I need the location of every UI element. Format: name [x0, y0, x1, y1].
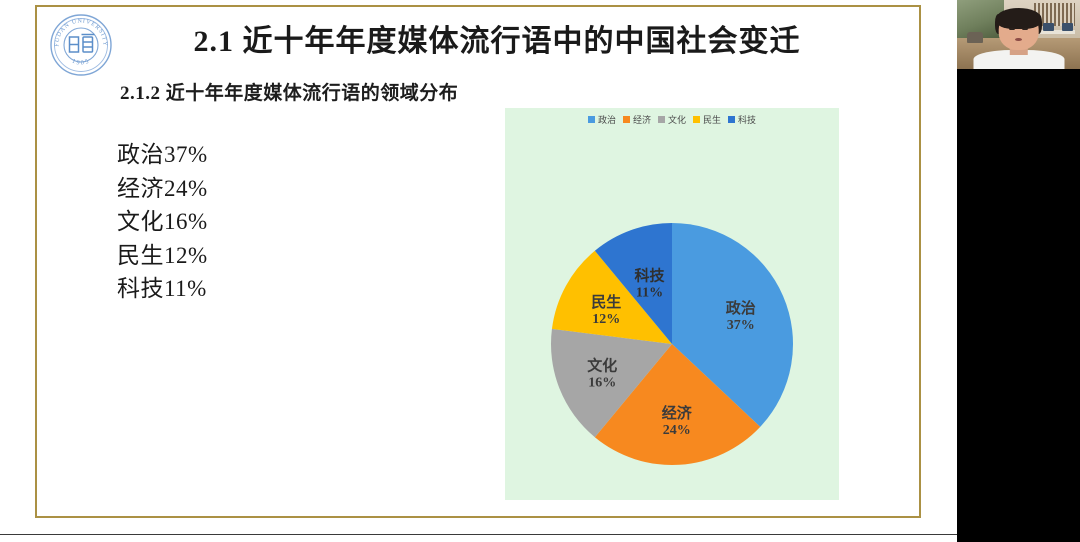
legend-item-wenhua: 文化 [658, 113, 686, 126]
pie-slice-label-name: 政治 [726, 299, 756, 317]
pie-chart-card: 政治 经济 文化 民生 [505, 108, 839, 500]
legend-label: 文化 [668, 113, 686, 126]
list-item: 政治37% [117, 138, 208, 172]
legend-swatch-zhengzhi [588, 116, 595, 123]
avatar-hair [996, 8, 1042, 29]
legend-swatch-minsheng [693, 116, 700, 123]
speaker-video-tile[interactable] [957, 0, 1080, 69]
chart-legend: 政治 经济 文化 民生 [505, 113, 839, 126]
pie-slice-label-value: 24% [663, 423, 691, 438]
pie-slice-label-name: 民生 [591, 293, 621, 311]
legend-label: 经济 [633, 113, 651, 126]
svg-text:FUDAN UNIVERSITY: FUDAN UNIVERSITY [54, 18, 107, 46]
presentation-slide: FUDAN UNIVERSITY 1905 [35, 5, 921, 518]
legend-item-zhengzhi: 政治 [588, 113, 616, 126]
svg-text:1905: 1905 [71, 58, 91, 67]
pie-slice-label-value: 11% [636, 285, 663, 300]
section-subtitle: 2.1.2 近十年年度媒体流行语的领域分布 [120, 81, 458, 107]
screen: FUDAN UNIVERSITY 1905 [0, 0, 1080, 542]
fudan-university-seal-icon: FUDAN UNIVERSITY 1905 [49, 13, 113, 77]
video-panel[interactable] [957, 0, 1080, 542]
avatar-eye [1022, 28, 1028, 30]
page-title: 2.1 近十年年度媒体流行语中的中国社会变迁 [127, 23, 867, 61]
list-item: 文化16% [117, 205, 208, 239]
pie-slice-label-name: 经济 [662, 404, 693, 422]
list-item: 经济24% [117, 172, 208, 206]
legend-item-jingji: 经济 [623, 113, 651, 126]
legend-swatch-jingji [623, 116, 630, 123]
avatar-eye [1009, 28, 1015, 30]
legend-item-minsheng: 民生 [693, 113, 721, 126]
pie-chart: 政治37%经济24%文化16%民生12%科技11% [550, 222, 794, 466]
list-item: 民生12% [117, 239, 208, 273]
window-bottom-strip [0, 534, 957, 542]
background-chair [967, 32, 983, 43]
legend-item-keji: 科技 [728, 113, 756, 126]
legend-label: 政治 [598, 113, 616, 126]
legend-swatch-keji [728, 116, 735, 123]
list-item: 科技11% [117, 272, 208, 306]
presentation-area: FUDAN UNIVERSITY 1905 [0, 0, 957, 534]
pie-slice-label-name: 科技 [634, 266, 665, 284]
background-chair [1043, 23, 1054, 31]
legend-label: 民生 [703, 113, 721, 126]
legend-swatch-wenhua [658, 116, 665, 123]
pie-slice-label-value: 16% [588, 376, 616, 391]
pie-slice-label-value: 37% [727, 318, 755, 333]
background-chair [1062, 23, 1073, 31]
pie-slice-label-value: 12% [592, 312, 620, 327]
legend-label: 科技 [738, 113, 756, 126]
pie-slice-label-name: 文化 [587, 357, 617, 375]
domain-distribution-list: 政治37% 经济24% 文化16% 民生12% 科技11% [117, 138, 208, 306]
